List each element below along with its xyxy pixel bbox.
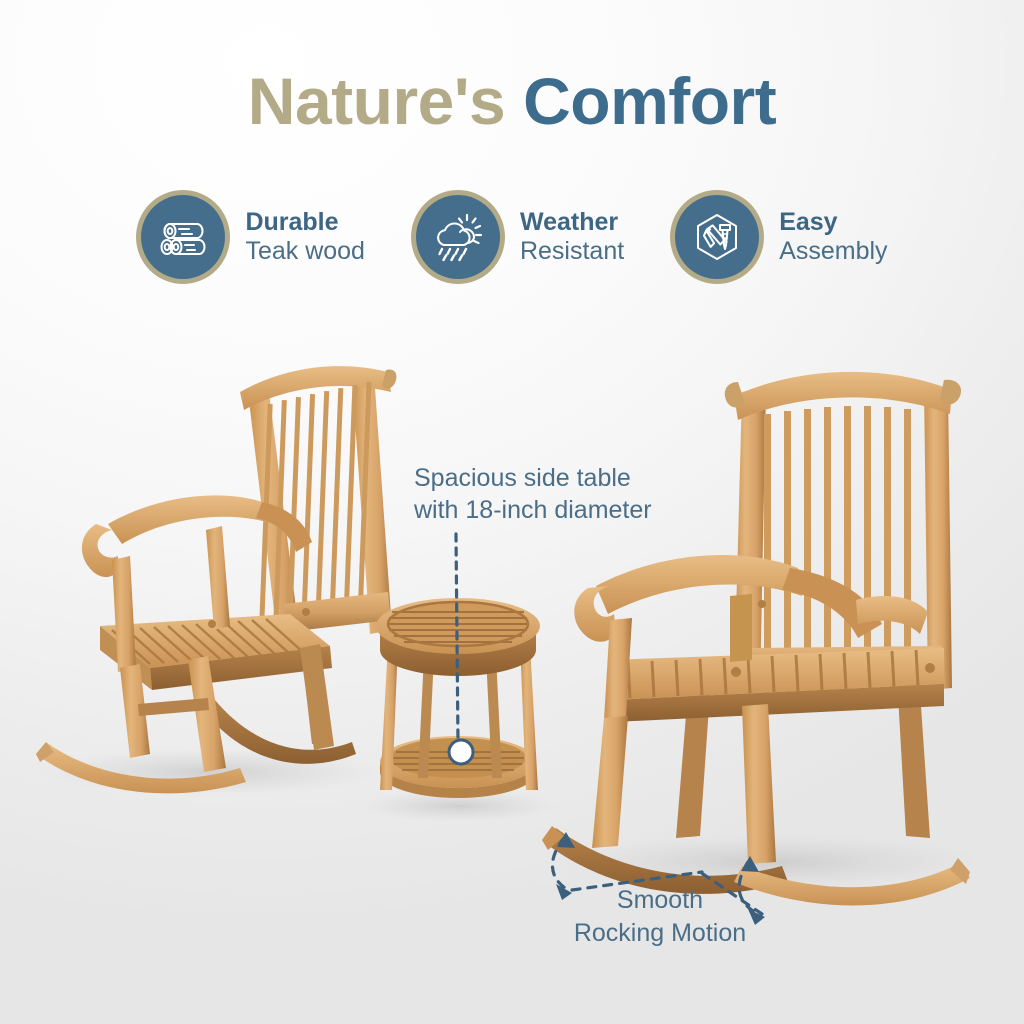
title-part-one: Nature's — [248, 64, 505, 138]
callout-side-table: Spacious side table with 18-inch diamete… — [414, 462, 652, 526]
feature-durable-subtitle: Teak wood — [245, 237, 365, 266]
badge-ring-assembly — [670, 190, 764, 284]
badge-disc-assembly — [675, 195, 759, 279]
feature-assembly-text: Easy Assembly — [779, 208, 887, 266]
feature-assembly: Easy Assembly — [670, 190, 887, 284]
feature-durable: Durable Teak wood — [136, 190, 365, 284]
feature-durable-title: Durable — [245, 208, 365, 237]
feature-weather: Weather Resistant — [411, 190, 624, 284]
sun-cloud-rain-icon — [431, 210, 485, 264]
callout-side-table-line-2: with 18-inch diameter — [414, 494, 652, 526]
stacked-logs-icon — [157, 211, 209, 263]
feature-durable-text: Durable Teak wood — [245, 208, 365, 266]
title-part-two: Comfort — [523, 64, 776, 138]
rocking-chair-right — [542, 372, 970, 906]
feature-weather-subtitle: Resistant — [520, 237, 624, 266]
badge-ring-durable — [136, 190, 230, 284]
infographic-canvas: Nature's Comfort — [0, 0, 1024, 1024]
feature-assembly-subtitle: Assembly — [779, 237, 887, 266]
hexagon-screwdriver-screw-icon — [690, 210, 744, 264]
badge-disc-durable — [141, 195, 225, 279]
callout-side-table-line-1: Spacious side table — [414, 462, 652, 494]
badge-disc-weather — [416, 195, 500, 279]
round-side-table — [376, 598, 540, 798]
callout-rocking-line-2: Rocking Motion — [545, 917, 775, 950]
feature-assembly-title: Easy — [779, 208, 887, 237]
page-title: Nature's Comfort — [0, 68, 1024, 134]
feature-weather-title: Weather — [520, 208, 624, 237]
badge-ring-weather — [411, 190, 505, 284]
callout-rocking-line-1: Smooth — [545, 884, 775, 917]
callout-rocking-motion: Smooth Rocking Motion — [545, 884, 775, 949]
feature-weather-text: Weather Resistant — [520, 208, 624, 266]
feature-badge-row: Durable Teak wood — [0, 190, 1024, 284]
rocking-chair-left — [36, 366, 396, 793]
